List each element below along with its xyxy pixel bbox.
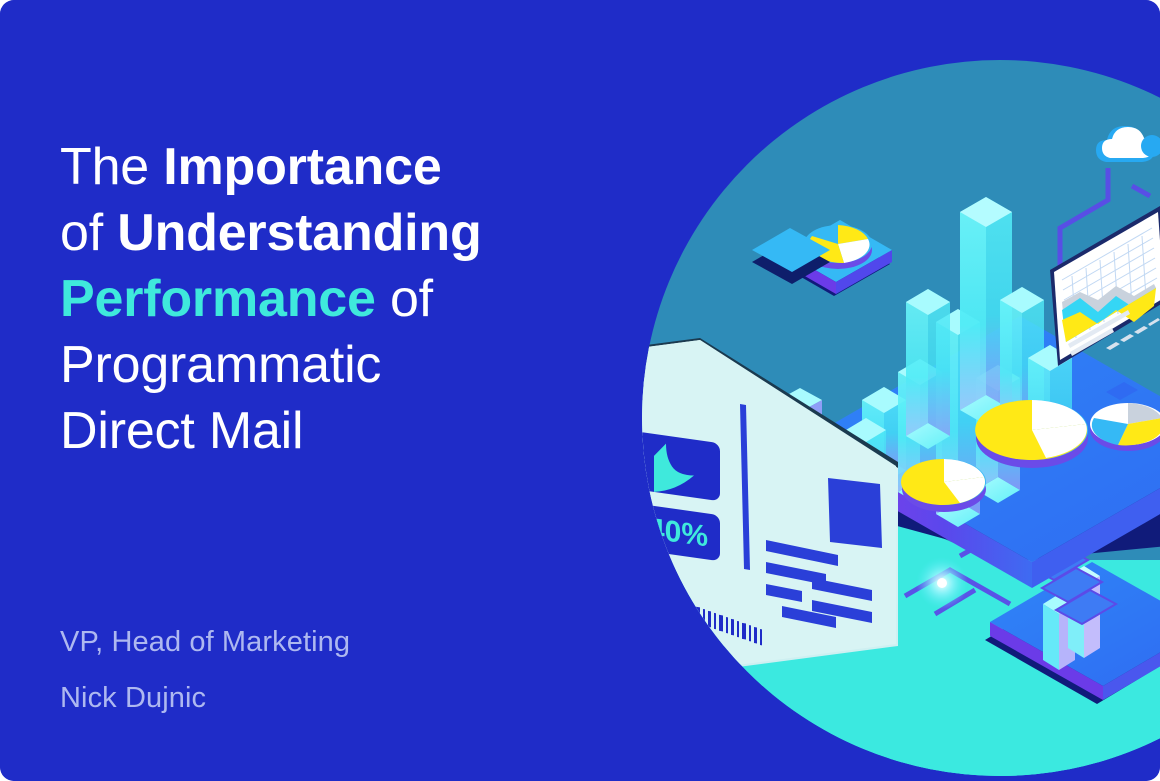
title-line-1-light: The — [60, 138, 163, 196]
presentation-slide: 40% — [0, 0, 1160, 781]
title-line-1-bold: Importance — [163, 138, 441, 196]
title-line-5-light: Direct Mail — [60, 402, 303, 460]
speaker-name: Nick Dujnic — [60, 670, 560, 726]
title-line-1: The Importance — [60, 134, 590, 200]
stamp-box — [828, 478, 882, 548]
speaker-role: VP, Head of Marketing — [60, 614, 560, 670]
title-line-3-tail: of — [376, 270, 433, 328]
title-line-2-light: of — [60, 204, 117, 262]
bar-5 — [906, 289, 950, 449]
title-line-4-light: Programmatic — [60, 336, 381, 394]
pie-chart-medium — [901, 459, 986, 512]
glow-node — [916, 557, 968, 609]
page-title: The Importance of Understanding Performa… — [60, 134, 590, 464]
speaker-block: VP, Head of Marketing Nick Dujnic — [60, 614, 560, 726]
title-line-4: Programmatic — [60, 332, 590, 398]
title-accent-word: Performance — [60, 270, 376, 328]
title-line-2-bold: Understanding — [117, 204, 481, 262]
title-line-2: of Understanding — [60, 200, 590, 266]
pie-chart-small — [1090, 403, 1160, 451]
pie-chart-large — [975, 400, 1088, 468]
text-column: The Importance of Understanding Performa… — [60, 0, 600, 781]
title-line-5: Direct Mail — [60, 398, 590, 464]
title-line-3: Performance of — [60, 266, 590, 332]
